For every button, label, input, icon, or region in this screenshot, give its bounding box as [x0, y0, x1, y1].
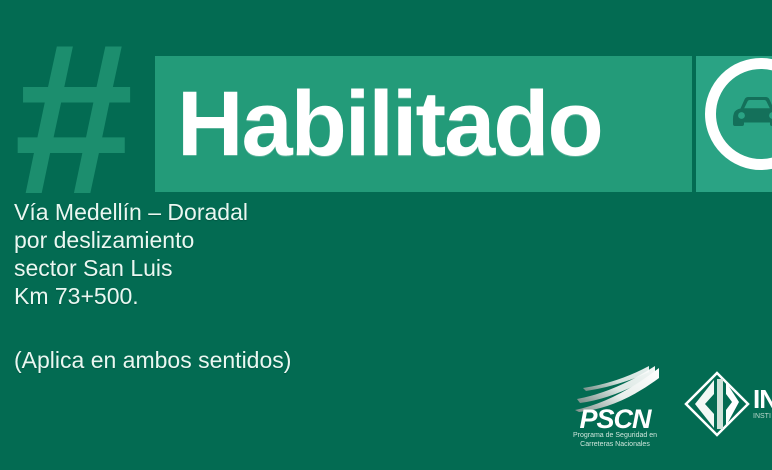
message-line-4: Km 73+500.: [14, 282, 534, 310]
car-icon: [728, 94, 772, 134]
pscn-tagline-line-1: Programa de Seguridad en: [563, 432, 667, 441]
status-banner: Habilitado: [155, 56, 692, 192]
notice-message: Vía Medellín – Doradal por deslizamiento…: [14, 198, 534, 310]
message-line-2: por deslizamiento: [14, 226, 534, 254]
pscn-tagline-line-2: Carreteras Nacionales: [563, 441, 667, 450]
pscn-logo: PSCN Programa de Seguridad en Carreteras…: [563, 366, 667, 450]
invias-logo: IN INSTI: [683, 368, 772, 448]
pscn-tagline: Programa de Seguridad en Carreteras Naci…: [563, 432, 667, 449]
message-line-3: sector San Luis: [14, 254, 534, 282]
diamond-icon: [683, 370, 751, 438]
message-line-1: Vía Medellín – Doradal: [14, 198, 534, 226]
invias-tagline: INSTI: [753, 413, 771, 421]
invias-wordmark: IN: [753, 386, 772, 412]
road-status-notice-poster: # Habilitado Vía Medellín – Doradal por …: [0, 0, 772, 470]
message-note: (Aplica en ambos sentidos): [14, 346, 291, 374]
pscn-wordmark: PSCN: [563, 406, 667, 433]
status-icon-panel: [696, 56, 772, 192]
status-title: Habilitado: [177, 76, 602, 172]
hashtag-symbol: #: [14, 38, 174, 200]
